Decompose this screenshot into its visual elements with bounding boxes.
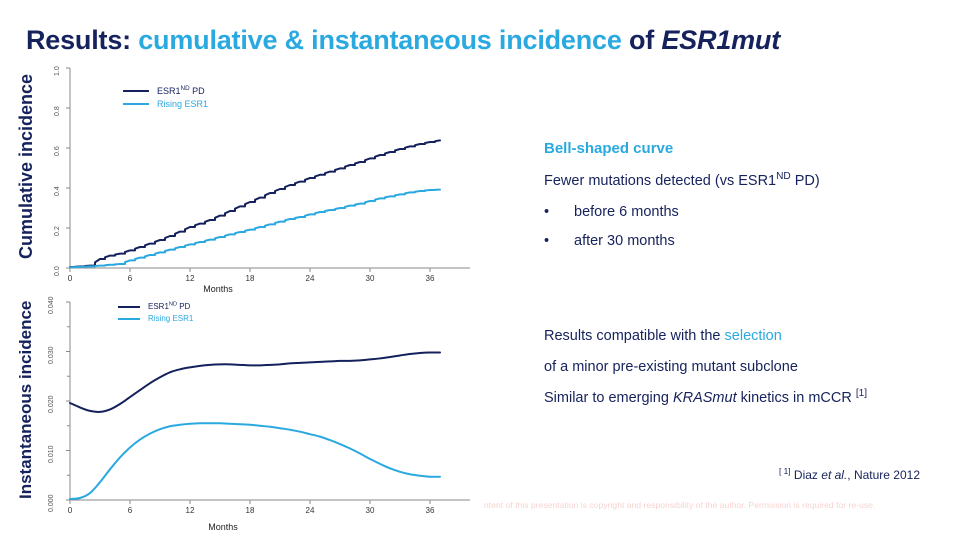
legend-label-esr1nd-pd-2: ESR1ND PD	[148, 302, 190, 311]
chart-cumulative-legend: ESR1ND PD Rising ESR1	[123, 86, 208, 112]
citation-reference: [ 1] Diaz et al., Nature 2012	[600, 468, 920, 482]
series-line-esr1nd-pd	[70, 352, 440, 412]
text-block-bell-shaped: Bell-shaped curve Fewer mutations detect…	[544, 140, 944, 260]
text-block-interpretation: Results compatible with the selection of…	[544, 326, 944, 419]
y-tick-label: 1.0	[54, 60, 61, 76]
text-minor-subclone: of a minor pre-existing mutant subclone	[544, 357, 944, 377]
slide-root: Results: cumulative & instantaneous inci…	[0, 0, 960, 540]
legend-item-esr1nd-pd-2: ESR1ND PD	[118, 302, 193, 311]
text-lead-bell-shaped-curve: Bell-shaped curve	[544, 140, 944, 158]
y-tick-label: 0.040	[48, 290, 55, 314]
x-tick-label: 30	[360, 506, 380, 515]
title-part-highlight: cumulative & instantaneous incidence	[138, 25, 621, 55]
legend-label-rising-esr1-2: Rising ESR1	[148, 314, 193, 323]
chart-instantaneous-svg	[70, 302, 470, 500]
bullet-marker: •	[544, 231, 574, 251]
chart-cumulative-x-axis-title: Months	[178, 284, 258, 294]
series-line-esr1nd-pd	[70, 140, 440, 267]
bullet-text: after 30 months	[574, 231, 675, 251]
text-similar-kras: Similar to emerging KRASmut kinetics in …	[544, 388, 944, 408]
bullet-after-30-months: • after 30 months	[544, 231, 944, 251]
chart-instantaneous-x-axis-title: Months	[183, 522, 263, 532]
y-tick-label: 0.4	[54, 180, 61, 196]
y-tick-label: 0.6	[54, 140, 61, 156]
x-tick-label: 0	[60, 506, 80, 515]
page-title: Results: cumulative & instantaneous inci…	[26, 20, 936, 60]
copyright-footer: ntent of this presentation is copyright …	[484, 500, 954, 510]
y-tick-label: 0.8	[54, 100, 61, 116]
title-part-gene: ESR1mut	[661, 25, 780, 55]
x-tick-label: 6	[120, 274, 140, 283]
title-part-of: of	[622, 25, 662, 55]
x-tick-label: 30	[360, 274, 380, 283]
chart-cumulative-y-axis-title: Cumulative incidence	[16, 70, 37, 262]
legend-label-esr1nd-pd: ESR1ND PD	[157, 86, 205, 96]
series-line-rising-esr1	[70, 423, 440, 499]
x-tick-label: 36	[420, 274, 440, 283]
text-fewer-mutations: Fewer mutations detected (vs ESR1ND PD)	[544, 171, 944, 191]
chart-instantaneous-plot-area: 0.0000.0100.0200.0300.040 061218243036	[70, 302, 470, 500]
legend-item-rising-esr1: Rising ESR1	[123, 99, 208, 109]
chart-instantaneous-legend: ESR1ND PD Rising ESR1	[118, 302, 193, 326]
y-tick-label: 0.010	[48, 439, 55, 463]
title-part-results: Results	[26, 25, 122, 55]
title-colon: :	[122, 25, 138, 55]
x-tick-label: 18	[240, 506, 260, 515]
chart-instantaneous-y-axis-title: Instantaneous incidence	[16, 300, 36, 500]
legend-item-rising-esr1-2: Rising ESR1	[118, 314, 193, 323]
y-tick-label: 0.000	[48, 488, 55, 512]
legend-item-esr1nd-pd: ESR1ND PD	[123, 86, 208, 96]
x-tick-label: 12	[180, 274, 200, 283]
x-tick-label: 36	[420, 506, 440, 515]
x-tick-label: 24	[300, 274, 320, 283]
bullet-text: before 6 months	[574, 202, 679, 222]
chart-instantaneous-incidence: Instantaneous incidence 0.0000.0100.0200…	[18, 296, 488, 534]
bullet-before-6-months: • before 6 months	[544, 202, 944, 222]
y-tick-label: 0.2	[54, 220, 61, 236]
legend-swatch-navy-line-2	[118, 306, 140, 308]
chart-cumulative-incidence: Cumulative incidence 0.00.20.40.60.81.0 …	[18, 62, 488, 294]
legend-swatch-cyan-line	[123, 103, 149, 105]
y-tick-label: 0.020	[48, 389, 55, 413]
x-tick-label: 0	[60, 274, 80, 283]
legend-label-rising-esr1: Rising ESR1	[157, 99, 208, 109]
legend-swatch-navy-line	[123, 90, 149, 92]
x-tick-label: 18	[240, 274, 260, 283]
y-tick-label: 0.030	[48, 340, 55, 364]
text-results-compatible: Results compatible with the selection	[544, 326, 944, 346]
x-tick-label: 6	[120, 506, 140, 515]
legend-swatch-cyan-line-2	[118, 318, 140, 320]
x-tick-label: 24	[300, 506, 320, 515]
bullet-marker: •	[544, 202, 574, 222]
x-tick-label: 12	[180, 506, 200, 515]
